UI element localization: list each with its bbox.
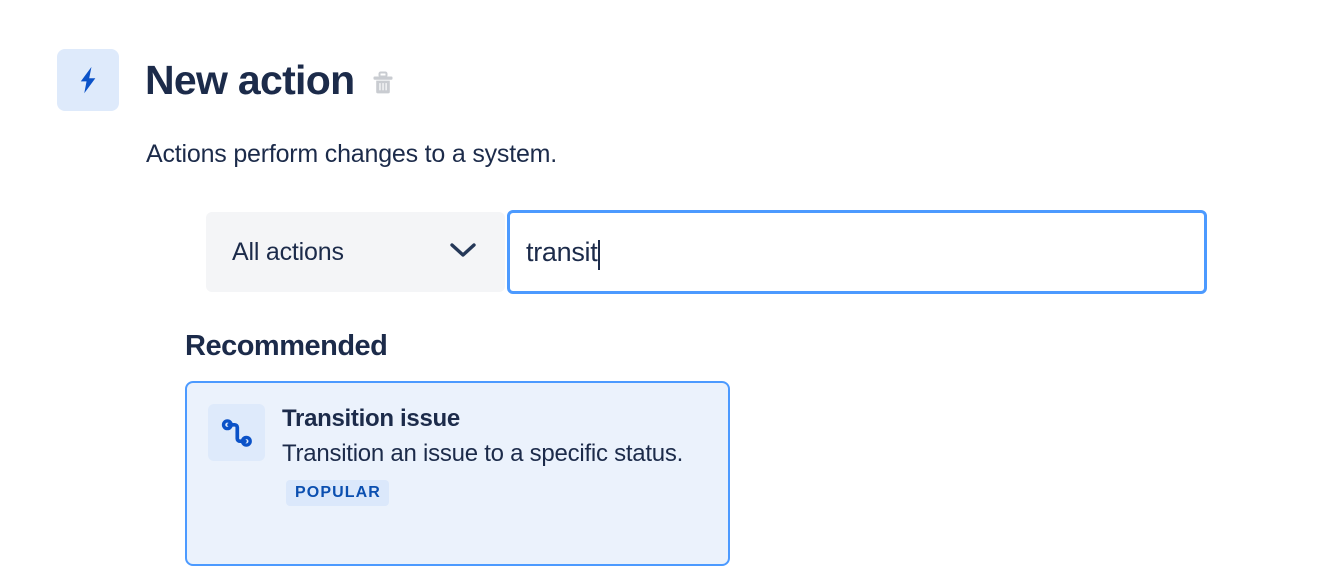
chevron-down-icon bbox=[449, 241, 477, 264]
result-card-transition-issue[interactable]: Transition issue Transition an issue to … bbox=[185, 381, 730, 566]
result-description-text: Transition an issue to a specific status… bbox=[282, 440, 683, 467]
recommended-section-title: Recommended bbox=[185, 332, 387, 361]
action-filter-label: All actions bbox=[232, 238, 344, 267]
action-search-input[interactable]: transit bbox=[507, 210, 1207, 294]
transition-branch-icon bbox=[208, 404, 265, 461]
result-title: Transition issue bbox=[282, 404, 702, 434]
result-description: Transition an issue to a specific status… bbox=[282, 434, 702, 512]
page-title: New action bbox=[145, 60, 354, 101]
page-header: New action bbox=[57, 49, 396, 111]
lightning-bolt-icon bbox=[57, 49, 119, 111]
text-caret bbox=[598, 240, 600, 270]
status-badge: POPULAR bbox=[286, 480, 389, 506]
trash-icon[interactable] bbox=[370, 68, 396, 98]
result-text: Transition issue Transition an issue to … bbox=[282, 404, 702, 512]
action-filter-select[interactable]: All actions bbox=[206, 212, 505, 292]
page-subtitle: Actions perform changes to a system. bbox=[146, 138, 557, 170]
search-row: All actions transit bbox=[206, 212, 1207, 294]
search-input-value: transit bbox=[526, 237, 597, 268]
title-wrap: New action bbox=[145, 49, 396, 111]
